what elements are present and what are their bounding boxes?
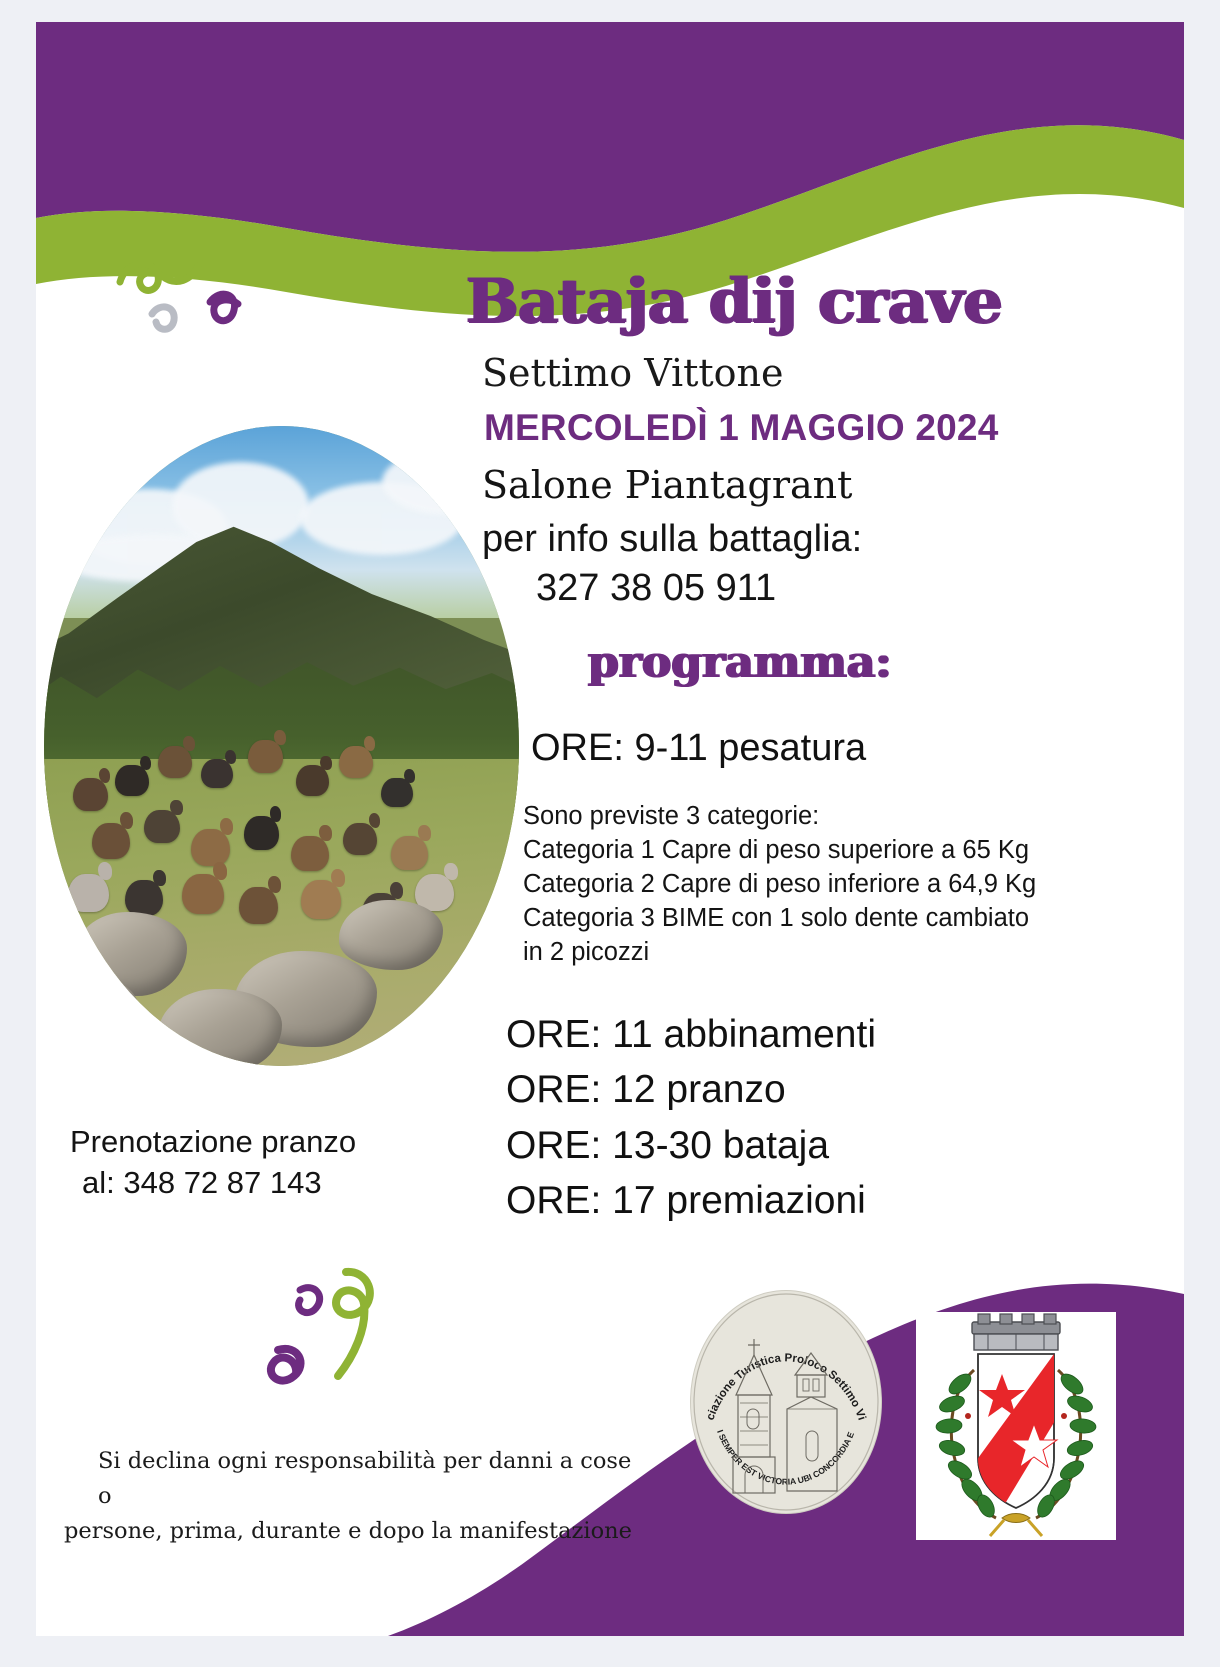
- category-item-2: Categoria 2 Capre di peso inferiore a 64…: [523, 868, 1143, 902]
- poster-sheet: Bataja dij crave Settimo Vittone MERCOLE…: [36, 22, 1184, 1636]
- disclaimer-line-2: persone, prima, durante e dopo la manife…: [64, 1514, 644, 1549]
- disclaimer-line-1: Si declina ogni responsabilità per danni…: [64, 1444, 644, 1514]
- programme-heading: programma:: [588, 637, 892, 688]
- category-item-3: Categoria 3 BIME con 1 solo dente cambia…: [523, 902, 1143, 936]
- event-date: MERCOLEDÌ 1 MAGGIO 2024: [484, 407, 999, 449]
- categories-block: Sono previste 3 categorie: Categoria 1 C…: [523, 800, 1143, 970]
- lunch-booking-block: Prenotazione pranzo al: 348 72 87 143: [70, 1122, 490, 1204]
- booking-phone-number: al: 348 72 87 143: [70, 1163, 490, 1204]
- proloco-seal-logo: Associazione Turistica Proloco Settimo V…: [690, 1290, 882, 1514]
- programme-slot-abbinamenti: ORE: 11 abbinamenti: [506, 1007, 1146, 1062]
- programme-slot-bataja: ORE: 13-30 bataja: [506, 1118, 1146, 1173]
- info-label: per info sulla battaglia:: [482, 518, 862, 561]
- programme-schedule-list: ORE: 11 abbinamenti ORE: 12 pranzo ORE: …: [506, 1007, 1146, 1229]
- info-phone-number: 327 38 05 911: [536, 567, 776, 610]
- poster-content: Bataja dij crave Settimo Vittone MERCOLE…: [36, 22, 1184, 1636]
- programme-slot-weighing: ORE: 9-11 pesatura: [531, 727, 866, 770]
- liability-disclaimer: Si declina ogni responsabilità per danni…: [64, 1444, 644, 1549]
- proloco-seal-artwork: Associazione Turistica Proloco Settimo V…: [691, 1291, 881, 1513]
- comune-coat-of-arms: [916, 1312, 1116, 1540]
- category-item-3-cont: in 2 picozzi: [523, 936, 1143, 970]
- programme-slot-premiazioni: ORE: 17 premiazioni: [506, 1173, 1146, 1228]
- event-venue: Salone Piantagrant: [482, 463, 852, 507]
- poster-title: Bataja dij crave: [466, 270, 1180, 333]
- booking-label: Prenotazione pranzo: [70, 1122, 490, 1163]
- event-place: Settimo Vittone: [482, 351, 784, 395]
- categories-intro: Sono previste 3 categorie:: [523, 800, 1143, 834]
- coat-of-arms-artwork: [916, 1312, 1116, 1540]
- programme-slot-pranzo: ORE: 12 pranzo: [506, 1062, 1146, 1117]
- category-item-1: Categoria 1 Capre di peso superiore a 65…: [523, 834, 1143, 868]
